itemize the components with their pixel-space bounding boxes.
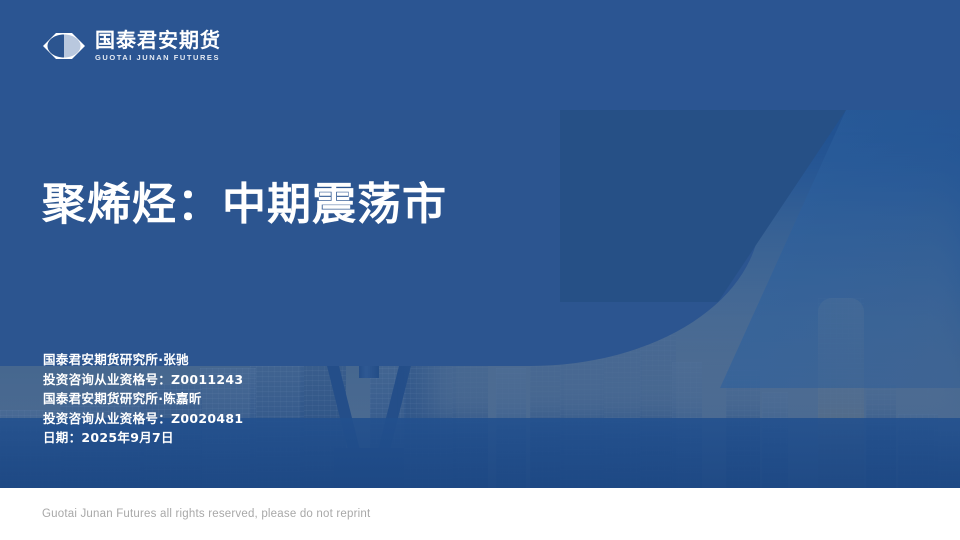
guotai-junan-hexagon-logo-icon	[42, 32, 86, 60]
author-block: 国泰君安期货研究所·张驰 投资咨询从业资格号：Z0011243 国泰君安期货研究…	[43, 350, 243, 448]
author-line-license-2: 投资咨询从业资格号：Z0020481	[43, 409, 243, 429]
author-line-license-1: 投资咨询从业资格号：Z0011243	[43, 370, 243, 390]
author-line-researcher-1: 国泰君安期货研究所·张驰	[43, 350, 243, 370]
footer-copyright: Guotai Junan Futures all rights reserved…	[42, 508, 370, 520]
author-line-date: 日期：2025年9月7日	[43, 428, 243, 448]
brand-name-en: GUOTAI JUNAN FUTURES	[95, 54, 221, 62]
brand-logo: 国泰君安期货 GUOTAI JUNAN FUTURES	[42, 30, 221, 62]
author-line-researcher-2: 国泰君安期货研究所·陈嘉昕	[43, 389, 243, 409]
presentation-title-slide: 国泰君安期货 GUOTAI JUNAN FUTURES 聚烯烃：中期震荡市 国泰…	[0, 0, 960, 540]
brand-name-cn: 国泰君安期货	[95, 30, 221, 50]
slide-title: 聚烯烃：中期震荡市	[42, 168, 447, 232]
